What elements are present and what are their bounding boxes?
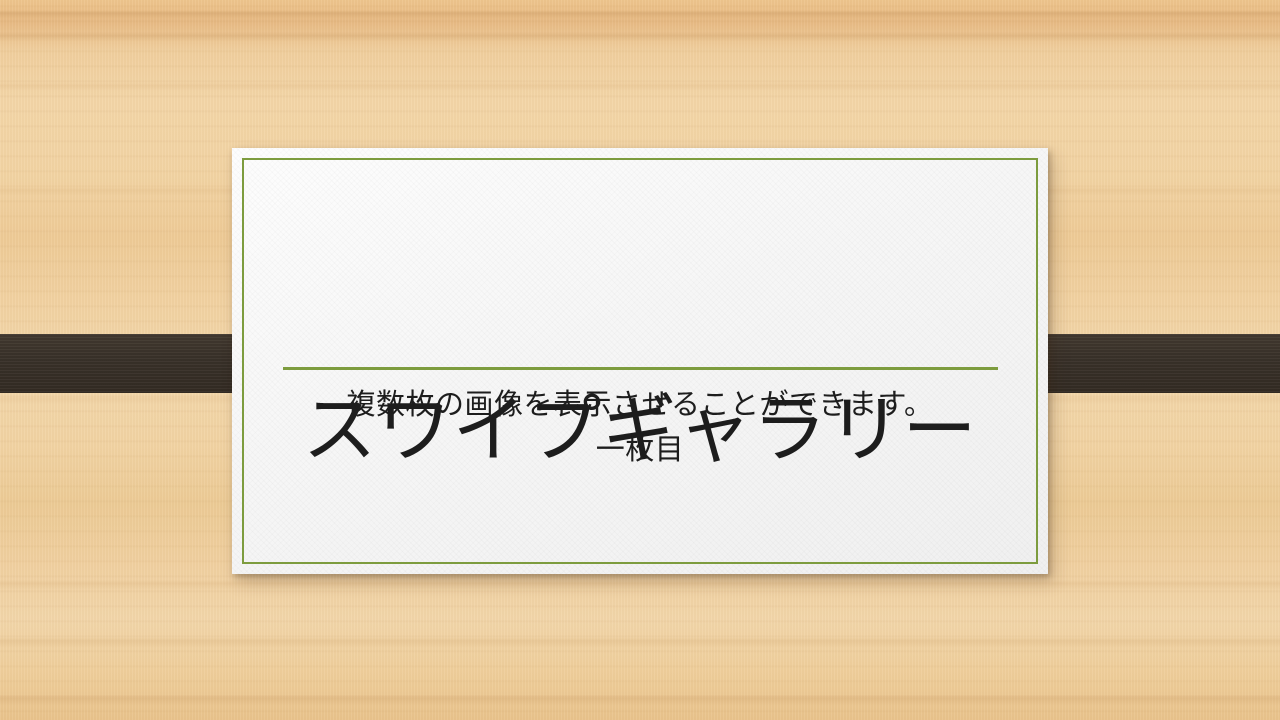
decorative-band-left [0, 334, 258, 393]
decorative-band-right [1018, 334, 1280, 393]
presentation-slide: スワイプギャラリー 複数枚の画像を表示させることができます。 一枚目 [0, 0, 1280, 720]
title-divider-line [283, 367, 998, 370]
subtitle-line-1: 複数枚の画像を表示させることができます。 [272, 382, 1008, 427]
card-inner-border [242, 158, 1038, 564]
slide-content-card: スワイプギャラリー 複数枚の画像を表示させることができます。 一枚目 [232, 148, 1048, 574]
subtitle-line-2: 一枚目 [272, 427, 1008, 472]
slide-subtitle[interactable]: 複数枚の画像を表示させることができます。 一枚目 [272, 382, 1008, 472]
